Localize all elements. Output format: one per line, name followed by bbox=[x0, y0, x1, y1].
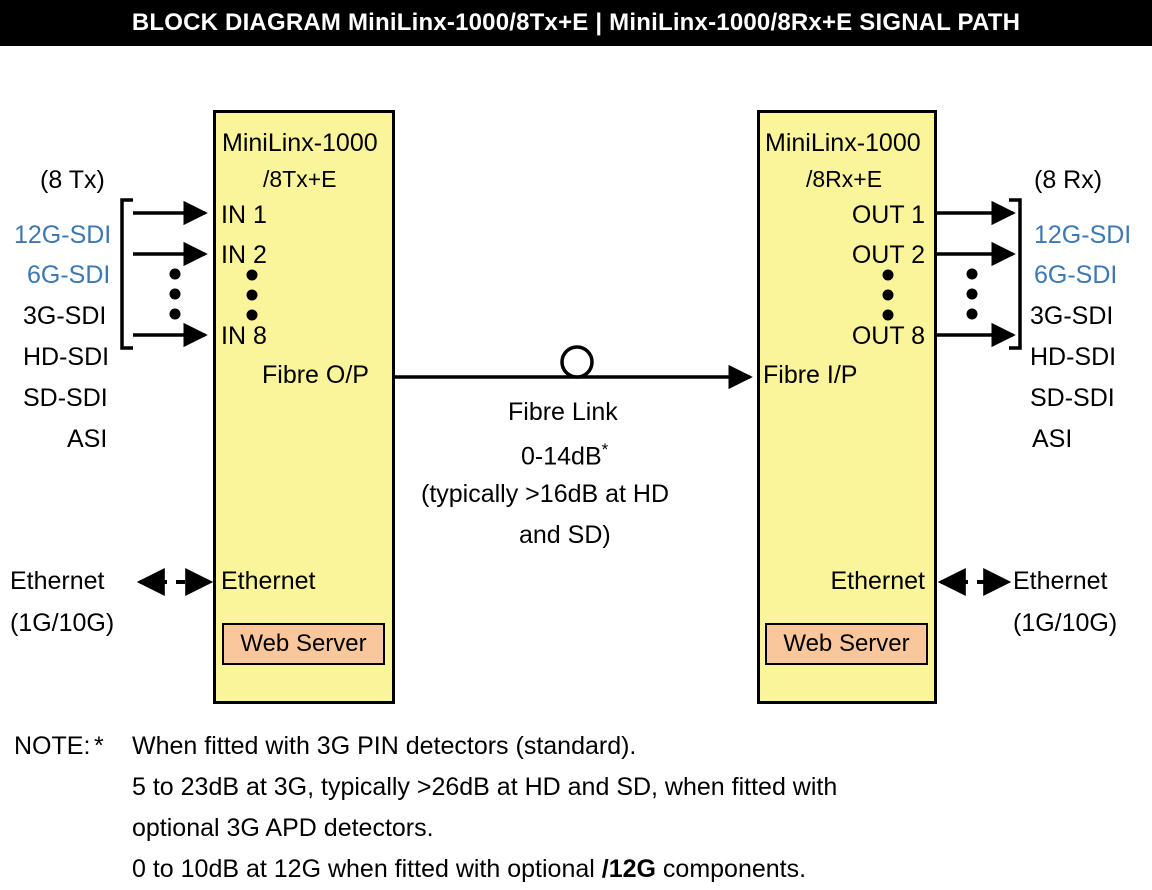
tx-format-sd-sdi: SD-SDI bbox=[23, 386, 108, 411]
footnote-heading: NOTE: bbox=[14, 726, 94, 767]
tx-input-bracket bbox=[122, 200, 133, 348]
tx-group-label: (8 Tx) bbox=[40, 168, 105, 193]
rx-web-server-box[interactable]: Web Server bbox=[765, 623, 928, 665]
tx-model-label: MiniLinx-1000 bbox=[222, 131, 378, 156]
tx-port-in-1: IN 1 bbox=[221, 203, 267, 228]
rx-port-out-1: OUT 1 bbox=[770, 203, 925, 228]
rx-group-label: (8 Rx) bbox=[1034, 168, 1102, 193]
rx-output-ellipsis-dots bbox=[967, 269, 978, 320]
footnote-marker: * bbox=[94, 726, 132, 767]
rx-web-server-label: Web Server bbox=[783, 630, 909, 658]
rx-device-block bbox=[757, 110, 937, 704]
rx-format-hd-sdi: HD-SDI bbox=[1030, 345, 1116, 370]
rx-ethernet-speed-label: (1G/10G) bbox=[1013, 611, 1117, 636]
footnote-text-3: optional 3G APD detectors. bbox=[132, 814, 434, 842]
rx-ethernet-port: Ethernet bbox=[760, 569, 925, 594]
rx-format-asi: ASI bbox=[1032, 427, 1072, 452]
tx-input-ellipsis-dots bbox=[170, 269, 181, 320]
footnote-line-2: 5 to 23dB at 3G, typically >26dB at HD a… bbox=[14, 767, 1114, 808]
tx-ethernet-port: Ethernet bbox=[221, 569, 316, 594]
rx-ethernet-external-label: Ethernet bbox=[1013, 569, 1108, 594]
footnote-block: NOTE:*When fitted with 3G PIN detectors … bbox=[14, 726, 1114, 890]
rx-fibre-input-port: Fibre I/P bbox=[763, 363, 857, 388]
tx-ethernet-speed-label: (1G/10G) bbox=[10, 611, 114, 636]
fibre-link-title: Fibre Link bbox=[508, 400, 618, 425]
fibre-connector-circle-icon bbox=[562, 347, 592, 377]
tx-port-in-8: IN 8 bbox=[221, 324, 267, 349]
rx-format-3g-sdi: 3G-SDI bbox=[1030, 304, 1113, 329]
tx-format-3g-sdi: 3G-SDI bbox=[23, 304, 106, 329]
rx-port-out-2: OUT 2 bbox=[770, 243, 925, 268]
tx-format-asi: ASI bbox=[67, 427, 107, 452]
footnote-line-1: NOTE:*When fitted with 3G PIN detectors … bbox=[14, 726, 1114, 767]
tx-variant-label: /8Tx+E bbox=[263, 168, 337, 191]
diagram-title-bar: BLOCK DIAGRAM MiniLinx-1000/8Tx+E | Mini… bbox=[0, 0, 1152, 46]
footnote-text-4-post: components. bbox=[656, 855, 806, 883]
rx-model-label: MiniLinx-1000 bbox=[765, 131, 921, 156]
tx-port-in-2: IN 2 bbox=[221, 243, 267, 268]
footnote-text-4-bold: /12G bbox=[602, 855, 656, 883]
footnote-text-1: When fitted with 3G PIN detectors (stand… bbox=[132, 732, 636, 760]
footnote-line-4: 0 to 10dB at 12G when fitted with option… bbox=[14, 849, 1114, 890]
tx-web-server-box[interactable]: Web Server bbox=[222, 623, 385, 665]
fibre-link-budget-value: 0-14dB bbox=[521, 442, 602, 470]
tx-format-hd-sdi: HD-SDI bbox=[23, 345, 109, 370]
tx-format-6g-sdi: 6G-SDI bbox=[27, 263, 110, 288]
rx-format-12g-sdi: 12G-SDI bbox=[1034, 223, 1131, 248]
footnote-text-2: 5 to 23dB at 3G, typically >26dB at HD a… bbox=[132, 773, 837, 801]
rx-variant-label: /8Rx+E bbox=[806, 168, 882, 191]
fibre-link-budget: 0-14dB* bbox=[521, 441, 608, 469]
tx-web-server-label: Web Server bbox=[240, 630, 366, 658]
tx-format-12g-sdi: 12G-SDI bbox=[14, 223, 111, 248]
fibre-link-budget-footnote-marker: * bbox=[602, 440, 609, 459]
page-title: BLOCK DIAGRAM MiniLinx-1000/8Tx+E | Mini… bbox=[132, 9, 1020, 37]
block-diagram-page: BLOCK DIAGRAM MiniLinx-1000/8Tx+E | Mini… bbox=[0, 0, 1152, 890]
footnote-text-4-pre: 0 to 10dB at 12G when fitted with option… bbox=[132, 855, 602, 883]
footnote-line-3: optional 3G APD detectors. bbox=[14, 808, 1114, 849]
rx-format-6g-sdi: 6G-SDI bbox=[1034, 263, 1117, 288]
fibre-link-typical-line-2: and SD) bbox=[519, 523, 611, 548]
tx-fibre-output-port: Fibre O/P bbox=[262, 363, 369, 388]
rx-output-bracket bbox=[1009, 200, 1020, 348]
rx-port-out-8: OUT 8 bbox=[770, 324, 925, 349]
rx-format-sd-sdi: SD-SDI bbox=[1030, 386, 1115, 411]
tx-ethernet-external-label: Ethernet bbox=[10, 569, 105, 594]
tx-device-block bbox=[213, 110, 395, 704]
fibre-link-typical-line-1: (typically >16dB at HD bbox=[421, 482, 669, 507]
